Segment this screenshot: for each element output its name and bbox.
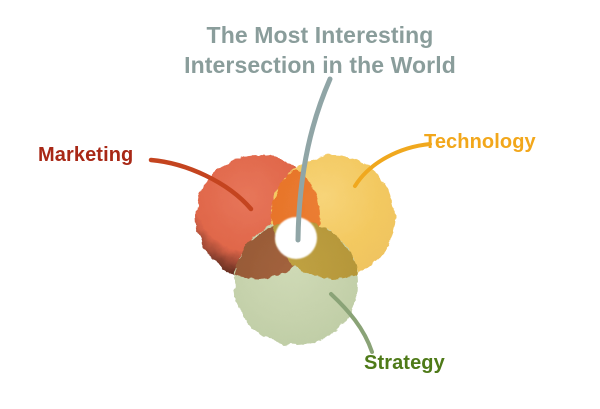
label-technology[interactable]: Technology [424, 131, 536, 154]
page-title: The Most Interesting Intersection in the… [150, 20, 490, 81]
slide-canvas: The Most Interesting Intersection in the… [0, 0, 600, 409]
label-strategy[interactable]: Strategy [364, 352, 445, 375]
label-marketing[interactable]: Marketing [38, 144, 133, 167]
